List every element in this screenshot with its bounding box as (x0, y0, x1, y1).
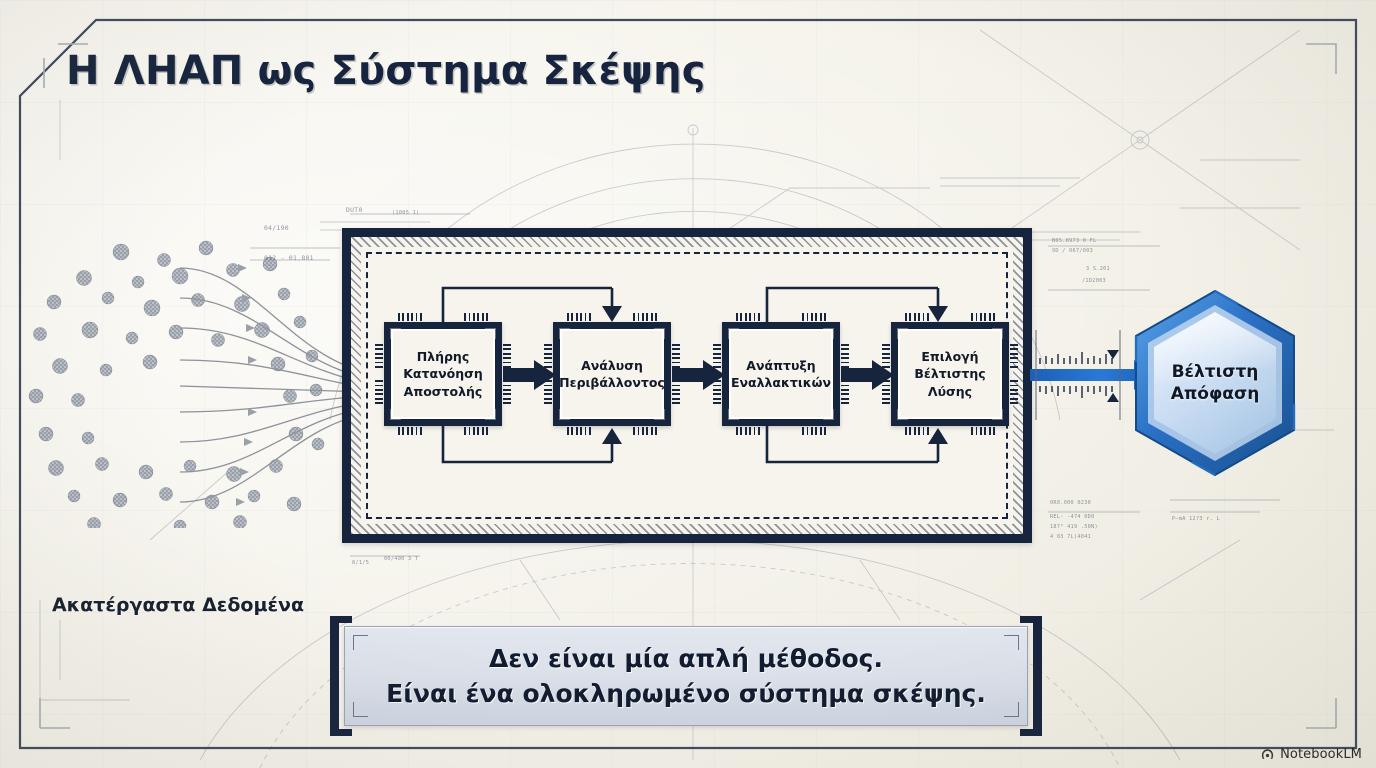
annotation-4: 4 03 7L)4041 (1050, 534, 1091, 540)
notebooklm-spiral-icon (1260, 747, 1275, 762)
annotation-0r0: 0R0.000 0230 (1050, 500, 1091, 506)
annotation-8115: 8/1/5 (352, 560, 369, 566)
chip-pins-right (503, 344, 511, 368)
caption-line-1: Δεν είναι μία απλή μέθοδος. (489, 641, 883, 677)
ruler-guides (1036, 330, 1120, 420)
ruler-ticks-top (1040, 352, 1112, 364)
chip-pins-right2 (1010, 380, 1018, 404)
process-step-4[interactable]: Επιλογή Βέλτιστης Λύσης (891, 322, 1009, 426)
optimal-decision-node[interactable]: Βέλτιστη Απόφαση (1128, 288, 1302, 478)
chip-pins-left (375, 344, 383, 368)
annotation-04190: 04/190 (264, 224, 289, 232)
hexagon-shape (1128, 288, 1302, 478)
process-step-2[interactable]: Ανάλυση Περιβάλλοντος (553, 322, 671, 426)
annotation-00400: 00/400 3 T (384, 556, 418, 562)
annotation-pma: P—mA 12?3 r. L (1172, 516, 1220, 522)
annotation-187: 187° 419 .50N) (1050, 524, 1098, 530)
chip-pins-bottom2 (802, 427, 826, 435)
chip-pins-top2 (633, 313, 657, 321)
chip-pins-top (398, 313, 422, 321)
annotation-3s201: 3 S.201 (1086, 266, 1110, 272)
chip-pins-right2 (841, 380, 849, 404)
chip-pins-right2 (672, 380, 680, 404)
process-step-2-label: Ανάλυση Περιβάλλοντος (553, 322, 671, 426)
watermark-label: NotebookLM (1280, 747, 1362, 762)
chip-pins-top (905, 313, 929, 321)
raw-data-label: Ακατέργαστα Δεδομένα (28, 593, 328, 617)
process-step-3-label: Ανάπτυξη Εναλλακτικών (722, 322, 840, 426)
annotation-1005: (1005 1) (392, 210, 419, 216)
process-step-1[interactable]: Πλήρης Κατανόηση Αποστολής (384, 322, 502, 426)
page-title: Η ΛΗΑΠ ως Σύστημα Σκέψης (66, 48, 706, 94)
chip-pins-bottom2 (464, 427, 488, 435)
slide-canvas: Η ΛΗΑΠ ως Σύστημα Σκέψης (0, 0, 1376, 768)
chip-pins-left (882, 344, 890, 368)
caption-banner: Δεν είναι μία απλή μέθοδος. Είναι ένα ολ… (330, 616, 1042, 736)
caption-text: Δεν είναι μία απλή μέθοδος. Είναι ένα ολ… (345, 627, 1027, 725)
ruler-ticks-bottom (1040, 386, 1112, 398)
annotation-012: 012 - 01.801 (264, 254, 314, 262)
chip-pins-bottom2 (633, 427, 657, 435)
chip-pins-left2 (882, 380, 890, 404)
chip-pins-left2 (544, 380, 552, 404)
chip-pins-top2 (971, 313, 995, 321)
caption-line-2: Είναι ένα ολοκληρωμένο σύστημα σκέψης. (386, 676, 986, 712)
chip-pins-bottom (398, 427, 422, 435)
chip-pins-right (841, 344, 849, 368)
chip-pins-top2 (802, 313, 826, 321)
chip-pins-right2 (503, 380, 511, 404)
process-step-3[interactable]: Ανάπτυξη Εναλλακτικών (722, 322, 840, 426)
annotation-dut0: DUT0 (346, 206, 363, 214)
chip-pins-top (567, 313, 591, 321)
chip-pins-left2 (713, 380, 721, 404)
ruler-pointers (1107, 350, 1119, 402)
chip-pins-top (736, 313, 760, 321)
chip-pins-bottom2 (971, 427, 995, 435)
chip-pins-right (672, 344, 680, 368)
chip-pins-bottom (736, 427, 760, 435)
chip-pins-left (713, 344, 721, 368)
annotation-b05: B05.8973 0 FL (1052, 238, 1097, 244)
chip-pins-left (544, 344, 552, 368)
chip-pins-top2 (464, 313, 488, 321)
annotation-9d: 9D / 067/003 (1052, 248, 1093, 254)
chip-pins-right (1010, 344, 1018, 368)
chip-pins-left2 (375, 380, 383, 404)
caption-panel: Δεν είναι μία απλή μέθοδος. Είναι ένα ολ… (344, 626, 1028, 726)
annotation-rel: REL- -474 0D0 (1050, 514, 1095, 520)
annotation-1d2003: /1D2003 (1082, 278, 1106, 284)
process-step-4-label: Επιλογή Βέλτιστης Λύσης (891, 322, 1009, 426)
chip-pins-bottom (567, 427, 591, 435)
process-step-1-label: Πλήρης Κατανόηση Αποστολής (384, 322, 502, 426)
chip-pins-bottom (905, 427, 929, 435)
notebooklm-watermark: NotebookLM (1260, 747, 1362, 762)
